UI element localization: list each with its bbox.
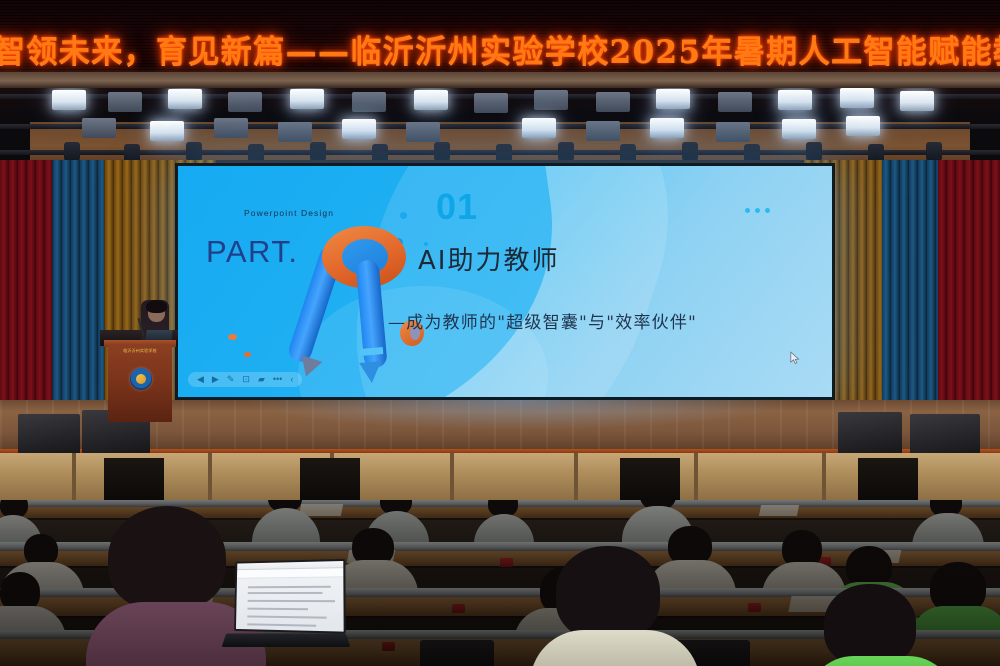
stage-lamp-icon xyxy=(596,92,630,112)
stage-lamp-icon xyxy=(82,118,116,138)
stage-lamp-icon xyxy=(474,93,508,113)
zoom-tool-icon[interactable]: ⊡ xyxy=(242,375,250,384)
mouse-cursor-icon xyxy=(790,351,800,365)
seat-back xyxy=(420,640,494,666)
stage-lamp-icon xyxy=(290,89,324,109)
floor-light-glow xyxy=(240,400,800,430)
stage-lamp-icon xyxy=(718,92,752,112)
school-crest-emblem-icon xyxy=(130,368,152,390)
projection-screen[interactable]: Powerpoint Design PART. 01 AI助力教师 —成为教师的… xyxy=(175,163,835,400)
stage-front-vent xyxy=(104,458,164,500)
audience-head xyxy=(556,546,660,640)
ceiling-light-truss xyxy=(0,84,1000,170)
presenter-hair xyxy=(146,300,167,313)
audience-head xyxy=(108,506,226,610)
stage-lamp-icon xyxy=(52,90,86,110)
stage-monitor-speaker xyxy=(18,414,80,458)
decor-orange-dot xyxy=(244,352,251,357)
stage-lamp-icon xyxy=(342,119,376,139)
stage-lamp-icon xyxy=(168,89,202,109)
seat-marker xyxy=(500,558,513,567)
slide-eyebrow: Powerpoint Design xyxy=(244,208,334,218)
stage-lamp-icon xyxy=(228,92,262,112)
stage-lamp-icon xyxy=(846,116,880,136)
stage-lamp-icon xyxy=(352,92,386,112)
slide-part-label: PART. xyxy=(206,234,299,270)
banner-rail xyxy=(0,72,1000,88)
seat-marker xyxy=(452,604,465,613)
pen-tool-icon[interactable]: ✎ xyxy=(227,375,235,384)
stage-lamp-icon xyxy=(716,122,750,142)
auditorium-photo: 智领未来，育见新篇——临沂沂州实验学校2025年暑期人工智能赋能教学论坛 xyxy=(0,0,1000,666)
collapse-toolbar-icon[interactable]: ‹ xyxy=(290,375,293,384)
stage-front-vent xyxy=(300,458,360,500)
more-options-icon[interactable]: ••• xyxy=(273,375,282,384)
prev-slide-icon[interactable]: ◀ xyxy=(197,375,204,384)
slide-subtitle: —成为教师的"超级智囊"与"效率伙伴" xyxy=(388,308,697,333)
panel-seam xyxy=(694,453,698,500)
stage-lamp-icon xyxy=(586,121,620,141)
pen-magnifier-illustration xyxy=(274,210,464,397)
stage-lamp-icon xyxy=(656,89,690,109)
presentation-slide[interactable]: Powerpoint Design PART. 01 AI助力教师 —成为教师的… xyxy=(178,166,832,397)
stage-lamp-icon xyxy=(778,90,812,110)
panel-seam xyxy=(574,453,578,500)
stage-lamp-icon xyxy=(108,92,142,112)
seat-marker xyxy=(748,603,761,612)
panel-seam xyxy=(450,453,454,500)
panel-seam xyxy=(72,453,76,500)
stage-front-vent xyxy=(858,458,918,500)
seat-marker xyxy=(382,642,395,651)
stage-front-vent xyxy=(620,458,680,500)
pen-tip-shape xyxy=(359,361,383,384)
laptop-app-toolbar xyxy=(237,568,343,579)
stage-lamp-icon xyxy=(150,121,184,141)
audience-laptop[interactable] xyxy=(224,560,348,652)
presenter-toolbar[interactable]: ◀ ▶ ✎ ⊡ ▰ ••• ‹ xyxy=(188,372,302,387)
laptop-keyboard[interactable] xyxy=(222,634,351,647)
panel-seam xyxy=(208,453,212,500)
audience-head xyxy=(824,584,916,666)
led-banner: 智领未来，育见新篇——临沂沂州实验学校2025年暑期人工智能赋能教学论坛 xyxy=(0,0,1000,88)
stage-lamp-icon xyxy=(782,119,816,139)
stage-lamp-icon xyxy=(278,122,312,142)
slide-section-number: 01 xyxy=(436,186,478,228)
podium-nameplate: 临沂沂州实验学校 xyxy=(108,348,172,354)
panel-seam xyxy=(822,453,826,500)
next-slide-icon[interactable]: ▶ xyxy=(212,375,219,384)
stage-lamp-icon xyxy=(534,90,568,110)
decor-orange-dot xyxy=(228,334,237,340)
stage-lamp-icon xyxy=(522,118,556,138)
stage-monitor-speaker xyxy=(838,412,902,458)
laptop-screen[interactable] xyxy=(234,559,346,634)
paper-sheet xyxy=(759,505,799,516)
stage-lamp-icon xyxy=(900,91,934,111)
stage-lamp-icon xyxy=(840,88,874,108)
presenter-view-icon[interactable]: ▰ xyxy=(258,375,265,384)
led-banner-text: 智领未来，育见新篇——临沂沂州实验学校2025年暑期人工智能赋能教学论坛 xyxy=(0,26,1000,71)
stage-lamp-icon xyxy=(414,90,448,110)
stage-lamp-icon xyxy=(650,118,684,138)
stage-lamp-icon xyxy=(406,122,440,142)
stage-lamp-icon xyxy=(214,118,248,138)
decor-dots xyxy=(745,208,770,213)
slide-title: AI助力教师 xyxy=(418,240,559,277)
